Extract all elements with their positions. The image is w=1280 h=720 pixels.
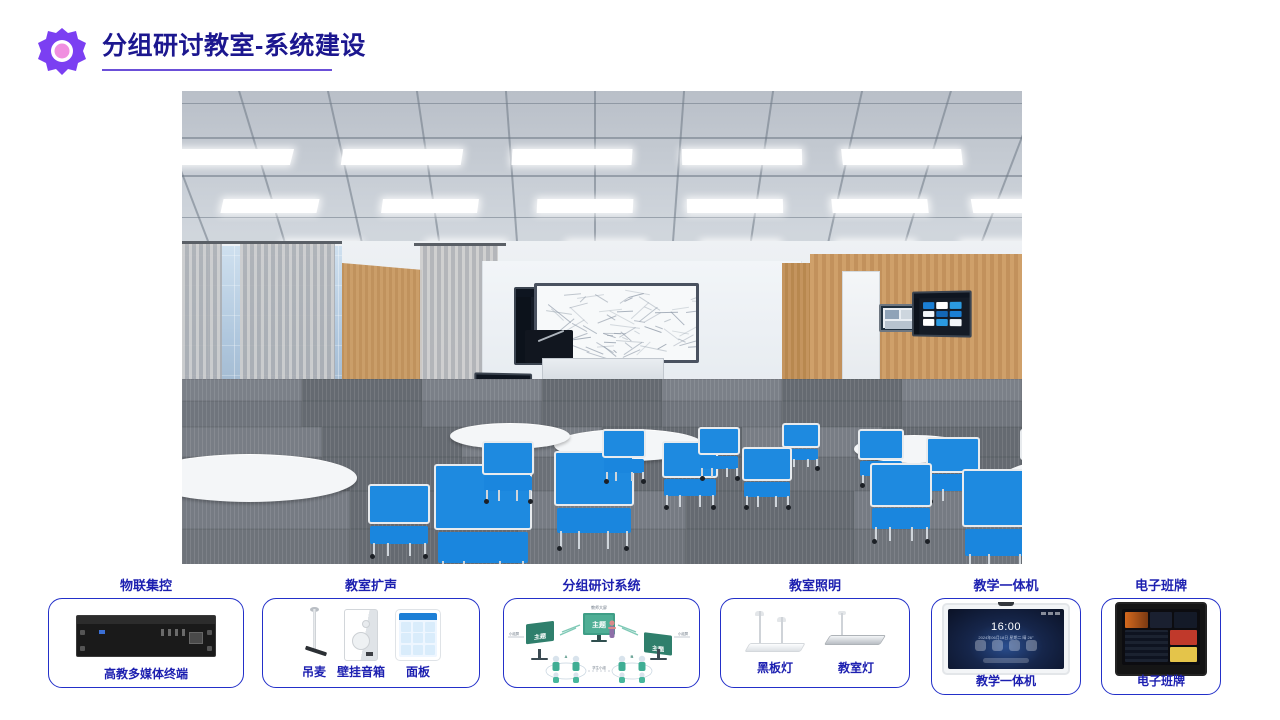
card-item-label: 吊麦 bbox=[302, 663, 326, 680]
slide-root: 分组研讨教室-系统建设 bbox=[0, 0, 1280, 720]
panel-clock: 16:00 bbox=[948, 621, 1064, 633]
card-header: 教室扩声 bbox=[262, 575, 480, 594]
diagram-caption-right: 小组屏 bbox=[678, 631, 689, 636]
hanging-microphone-icon bbox=[301, 607, 327, 661]
svg-text:A: A bbox=[565, 654, 568, 659]
device-card-strip: 物联集控 高教多媒体终端 教室扩声 bbox=[0, 575, 1280, 700]
diagram-caption-left: 小组屏 bbox=[509, 631, 520, 636]
left-wood-panel bbox=[332, 262, 422, 390]
card-item-label: 壁挂音箱 bbox=[337, 663, 385, 680]
card-group-discussion[interactable]: 分组研讨系统 教师大屏 主题 主题 bbox=[503, 575, 700, 688]
card-item-label: 教学一体机 bbox=[932, 672, 1080, 689]
blackboard-light-icon bbox=[745, 611, 805, 657]
card-header: 电子班牌 bbox=[1101, 575, 1221, 594]
card-body[interactable]: 黑板灯 教室灯 bbox=[720, 598, 910, 688]
card-body[interactable]: 电子班牌 bbox=[1101, 598, 1221, 695]
page-title: 分组研讨教室-系统建设 bbox=[102, 33, 366, 61]
wall-speaker-icon bbox=[344, 609, 378, 661]
classroom-chair bbox=[742, 447, 792, 507]
rack-device-icon bbox=[76, 615, 216, 657]
card-item-label: 高教多媒体终端 bbox=[49, 665, 243, 682]
diagram-caption-top: 教师大屏 bbox=[591, 604, 607, 610]
card-teaching-panel[interactable]: 教学一体机 16:00 2024年06月18日 星期二 晴 26° 教学一体机 bbox=[931, 575, 1081, 695]
classroom-chair bbox=[870, 463, 932, 541]
card-header: 教室照明 bbox=[720, 575, 910, 594]
classroom-chair bbox=[1020, 429, 1022, 485]
interactive-flat-panel-icon: 16:00 2024年06月18日 星期二 晴 26° bbox=[942, 603, 1070, 675]
curtain-rod-2 bbox=[414, 243, 506, 246]
card-item-label: 面板 bbox=[406, 663, 430, 680]
card-header: 物联集控 bbox=[48, 575, 244, 594]
group-discussion-diagram-icon: 教师大屏 主题 主题 bbox=[504, 601, 699, 685]
slide-header: 分组研讨教室-系统建设 bbox=[36, 26, 366, 78]
card-classroom-lighting[interactable]: 教室照明 黑板灯 教室灯 bbox=[720, 575, 910, 688]
card-item-label: 黑板灯 bbox=[757, 659, 793, 676]
card-item-label: 教室灯 bbox=[838, 659, 874, 676]
door bbox=[842, 271, 880, 381]
card-classroom-audio[interactable]: 教室扩声 吊麦 壁挂音箱 bbox=[262, 575, 480, 688]
card-electronic-sign[interactable]: 电子班牌 电子班牌 bbox=[1101, 575, 1221, 695]
classroom-photo bbox=[182, 91, 1022, 564]
card-item-classroom-light: 教室灯 bbox=[827, 611, 885, 676]
camera-icon bbox=[998, 602, 1014, 606]
gear-icon bbox=[36, 26, 88, 78]
card-item-wall-speaker: 壁挂音箱 bbox=[337, 609, 385, 680]
card-item-control-panel: 面板 bbox=[395, 609, 441, 680]
card-body[interactable]: 吊麦 壁挂音箱 bbox=[262, 598, 480, 688]
classroom-chair bbox=[368, 484, 430, 556]
svg-text:主题: 主题 bbox=[592, 620, 607, 629]
diagram-caption-bottom: 学生小组 bbox=[592, 665, 606, 670]
classroom-chair bbox=[482, 441, 534, 501]
curtain-rod-1 bbox=[182, 241, 342, 244]
electronic-class-sign-icon bbox=[1115, 602, 1207, 676]
card-iot-control[interactable]: 物联集控 高教多媒体终端 bbox=[48, 575, 244, 688]
card-header: 分组研讨系统 bbox=[503, 575, 700, 594]
card-body[interactable]: 16:00 2024年06月18日 星期二 晴 26° 教学一体机 bbox=[931, 598, 1081, 695]
svg-text:B: B bbox=[631, 654, 634, 659]
card-header: 教学一体机 bbox=[931, 575, 1081, 594]
card-item-blackboard-light: 黑板灯 bbox=[745, 611, 805, 676]
card-body[interactable]: 教师大屏 主题 主题 bbox=[503, 598, 700, 688]
classroom-chair bbox=[698, 427, 740, 477]
card-body[interactable]: 高教多媒体终端 bbox=[48, 598, 244, 688]
title-underline bbox=[102, 69, 332, 71]
card-item-hanging-mic: 吊麦 bbox=[301, 607, 327, 680]
card-item-label: 电子班牌 bbox=[1102, 672, 1220, 689]
classroom-chair bbox=[962, 469, 1022, 564]
control-panel-icon bbox=[395, 609, 441, 661]
classroom-light-icon bbox=[827, 611, 885, 657]
classroom-chair bbox=[602, 429, 646, 481]
group-display-right bbox=[912, 290, 972, 337]
